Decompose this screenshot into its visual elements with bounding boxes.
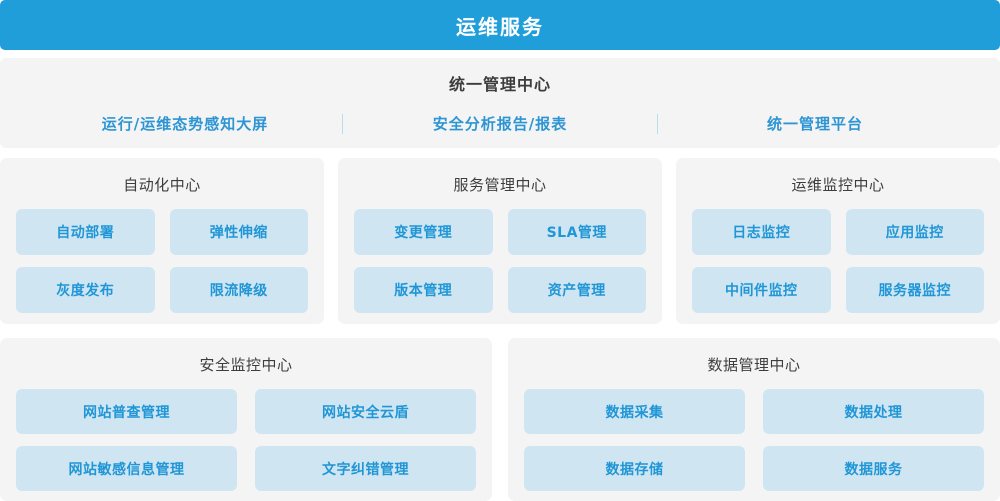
tile-gray-release[interactable]: 灰度发布 [16, 267, 155, 313]
tile-rate-limit-degrade[interactable]: 限流降级 [170, 267, 309, 313]
tile-text-correction-management[interactable]: 文字纠错管理 [255, 446, 476, 491]
panel-title-automation-center: 自动化中心 [16, 174, 308, 195]
band-link-management-platform[interactable]: 统一管理平台 [658, 113, 972, 134]
tile-grid-security-monitoring-center: 网站普查管理 网站安全云盾 网站敏感信息管理 文字纠错管理 [16, 389, 476, 491]
tile-data-collection[interactable]: 数据采集 [524, 389, 745, 434]
band-link-security-report[interactable]: 安全分析报告/报表 [343, 113, 657, 134]
panel-title-security-monitoring-center: 安全监控中心 [16, 354, 476, 375]
tile-website-security-cloud-shield[interactable]: 网站安全云盾 [255, 389, 476, 434]
tile-grid-automation-center: 自动部署 弹性伸缩 灰度发布 限流降级 [16, 209, 308, 313]
tile-asset-management[interactable]: 资产管理 [508, 267, 647, 313]
tile-website-sensitive-info-management[interactable]: 网站敏感信息管理 [16, 446, 237, 491]
panel-service-management-center: 服务管理中心 变更管理 SLA管理 版本管理 资产管理 [338, 158, 662, 324]
panel-ops-monitoring-center: 运维监控中心 日志监控 应用监控 中间件监控 服务器监控 [676, 158, 1000, 324]
tile-change-management[interactable]: 变更管理 [354, 209, 493, 255]
unified-management-title: 统一管理中心 [0, 71, 1000, 95]
tile-middleware-monitoring[interactable]: 中间件监控 [692, 267, 831, 313]
tile-grid-service-management-center: 变更管理 SLA管理 版本管理 资产管理 [354, 209, 646, 313]
page-title: 运维服务 [456, 11, 544, 40]
tile-version-management[interactable]: 版本管理 [354, 267, 493, 313]
tile-grid-ops-monitoring-center: 日志监控 应用监控 中间件监控 服务器监控 [692, 209, 984, 313]
tile-sla-management[interactable]: SLA管理 [508, 209, 647, 255]
tile-website-census-management[interactable]: 网站普查管理 [16, 389, 237, 434]
tile-auto-deploy[interactable]: 自动部署 [16, 209, 155, 255]
panel-data-management-center: 数据管理中心 数据采集 数据处理 数据存储 数据服务 [508, 338, 1000, 501]
ops-service-architecture-diagram: 运维服务 统一管理中心 运行/运维态势感知大屏 安全分析报告/报表 统一管理平台… [0, 0, 1000, 501]
page-title-bar: 运维服务 [0, 0, 1000, 50]
tile-data-storage[interactable]: 数据存储 [524, 446, 745, 491]
band-link-dashboard[interactable]: 运行/运维态势感知大屏 [28, 113, 342, 134]
tile-data-processing[interactable]: 数据处理 [763, 389, 984, 434]
panel-title-service-management-center: 服务管理中心 [354, 174, 646, 195]
tile-elastic-scaling[interactable]: 弹性伸缩 [170, 209, 309, 255]
panel-automation-center: 自动化中心 自动部署 弹性伸缩 灰度发布 限流降级 [0, 158, 324, 324]
tile-grid-data-management-center: 数据采集 数据处理 数据存储 数据服务 [524, 389, 984, 491]
bottom-panel-row: 安全监控中心 网站普查管理 网站安全云盾 网站敏感信息管理 文字纠错管理 数据管… [0, 338, 1000, 501]
panel-title-ops-monitoring-center: 运维监控中心 [692, 174, 984, 195]
panel-title-data-management-center: 数据管理中心 [524, 354, 984, 375]
tile-data-service[interactable]: 数据服务 [763, 446, 984, 491]
panel-security-monitoring-center: 安全监控中心 网站普查管理 网站安全云盾 网站敏感信息管理 文字纠错管理 [0, 338, 492, 501]
unified-management-links: 运行/运维态势感知大屏 安全分析报告/报表 统一管理平台 [0, 113, 1000, 134]
top-panel-row: 自动化中心 自动部署 弹性伸缩 灰度发布 限流降级 服务管理中心 变更管理 SL… [0, 158, 1000, 324]
tile-log-monitoring[interactable]: 日志监控 [692, 209, 831, 255]
tile-server-monitoring[interactable]: 服务器监控 [846, 267, 985, 313]
unified-management-band: 统一管理中心 运行/运维态势感知大屏 安全分析报告/报表 统一管理平台 [0, 58, 1000, 148]
tile-application-monitoring[interactable]: 应用监控 [846, 209, 985, 255]
